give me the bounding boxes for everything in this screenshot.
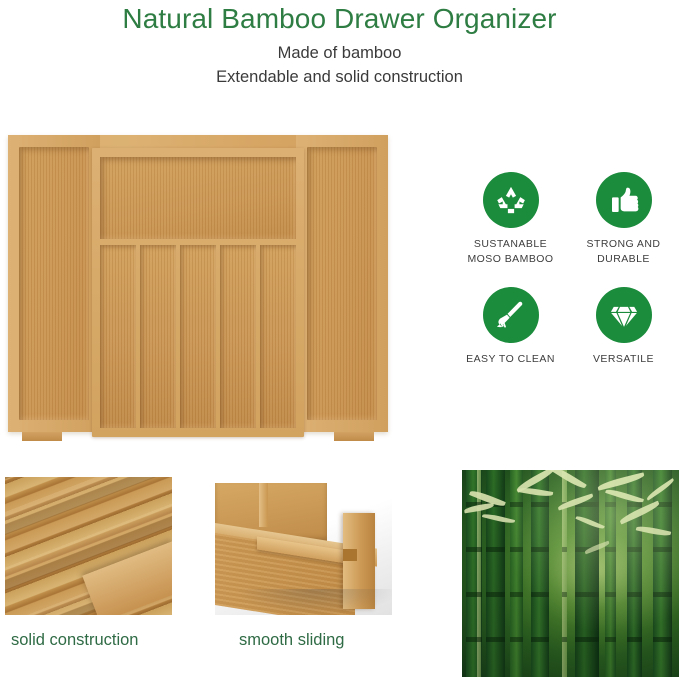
cutlery-slot-row	[100, 245, 296, 428]
badge-easy-to-clean: EASY TO CLEAN	[458, 287, 563, 367]
organizer-right-compartment	[296, 135, 388, 432]
extension-tab-left	[22, 432, 62, 441]
rail-groove	[343, 549, 357, 561]
compartment-slot	[220, 245, 256, 428]
compartment-wide-top	[100, 157, 296, 239]
organizer-left-compartment	[8, 135, 100, 432]
drop-shadow	[237, 589, 392, 615]
caption-solid-construction: solid construction	[11, 629, 138, 651]
smooth-sliding-photo	[215, 477, 392, 615]
page-title: Natural Bamboo Drawer Organizer	[0, 2, 679, 36]
compartment-slot	[260, 245, 296, 428]
compartment-slot	[180, 245, 216, 428]
badge-label: SUSTANABLE MOSO BAMBOO	[458, 237, 563, 267]
badge-label: VERSATILE	[571, 352, 676, 367]
badge-strong-and-durable: STRONG AND DURABLE	[571, 172, 676, 267]
recycle-icon	[483, 172, 539, 228]
compartment-well	[19, 147, 89, 420]
subtitle-extendable-construction: Extendable and solid construction	[0, 66, 679, 89]
diamond-icon	[596, 287, 652, 343]
organizer-inner-tray	[92, 148, 304, 437]
brush-icon	[483, 287, 539, 343]
tray-divider	[259, 483, 268, 527]
product-hero-photo	[4, 126, 396, 441]
compartment-slot	[140, 245, 176, 428]
extension-tab-right	[334, 432, 374, 441]
organizer-outer-frame	[8, 135, 388, 432]
feature-badge-grid: SUSTANABLE MOSO BAMBOO STRONG AND DURABL…	[458, 172, 676, 367]
thumbs-up-icon	[596, 172, 652, 228]
compartment-well	[307, 147, 377, 420]
solid-construction-photo	[5, 477, 172, 615]
header-block: Natural Bamboo Drawer Organizer Made of …	[0, 0, 679, 89]
badge-label: STRONG AND DURABLE	[571, 237, 676, 267]
forest-lighting	[462, 470, 679, 677]
badge-versatile: VERSATILE	[571, 287, 676, 367]
caption-smooth-sliding: smooth sliding	[239, 629, 344, 651]
bamboo-forest-photo	[462, 470, 679, 677]
badge-label: EASY TO CLEAN	[458, 352, 563, 367]
badge-sustainable-moso-bamboo: SUSTANABLE MOSO BAMBOO	[458, 172, 563, 267]
compartment-slot	[100, 245, 136, 428]
subtitle-made-of-bamboo: Made of bamboo	[0, 42, 679, 65]
